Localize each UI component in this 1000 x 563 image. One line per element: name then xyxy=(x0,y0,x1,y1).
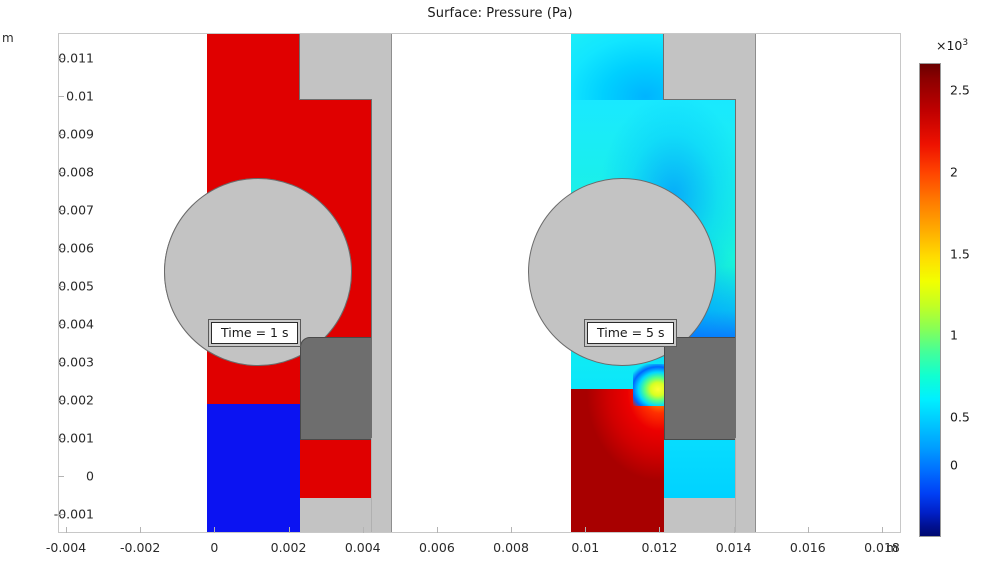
solid-block-left xyxy=(300,337,372,440)
x-tick-label: 0.01 xyxy=(571,540,599,555)
outline-left-inner-low xyxy=(371,438,372,532)
x-tick-label: -0.004 xyxy=(46,540,86,555)
outline-right-outer xyxy=(755,34,756,532)
outline-left-outer xyxy=(391,34,392,532)
x-tick-label: 0.014 xyxy=(716,540,752,555)
y-tick-mark xyxy=(58,400,64,401)
colorbar-exponent-power: 3 xyxy=(962,38,968,48)
x-tick-mark xyxy=(363,527,364,533)
x-tick-mark xyxy=(66,527,67,533)
field-upper-chamber-right xyxy=(571,34,664,100)
y-tick-mark xyxy=(58,248,64,249)
y-tick-mark xyxy=(58,134,64,135)
x-tick-mark xyxy=(289,527,290,533)
colorbar-tick-label: 0.5 xyxy=(950,410,970,425)
x-tick-label: 0.006 xyxy=(419,540,455,555)
outline-right-inner-low xyxy=(735,438,736,532)
y-tick-mark xyxy=(58,96,64,97)
x-tick-mark xyxy=(437,527,438,533)
colorbar-gradient-strip xyxy=(919,63,941,537)
colorbar-tick-label: 0 xyxy=(950,458,958,473)
y-tick-mark xyxy=(58,58,64,59)
panel-time-5s xyxy=(571,34,756,532)
outline-left-inner-wall xyxy=(371,100,372,438)
colorbar-tick-label: 1 xyxy=(950,328,958,343)
time-annotation-right: Time = 5 s xyxy=(587,322,674,344)
x-tick-label: 0.016 xyxy=(790,540,826,555)
x-tick-mark xyxy=(140,527,141,533)
y-tick-label: 0.01 xyxy=(66,89,94,104)
colorbar-exponent-label: ×103 xyxy=(936,38,968,53)
colorbar-tick-label: 2.5 xyxy=(950,83,970,98)
x-tick-label: 0.012 xyxy=(642,540,678,555)
field-upper-chamber-left xyxy=(207,34,300,100)
y-tick-mark xyxy=(58,324,64,325)
x-tick-mark xyxy=(734,527,735,533)
colorbar-tick-label: 2 xyxy=(950,165,958,180)
y-tick-label: 0 xyxy=(86,469,94,484)
y-tick-mark xyxy=(58,362,64,363)
y-tick-mark xyxy=(58,476,64,477)
x-tick-mark xyxy=(214,527,215,533)
x-tick-mark xyxy=(511,527,512,533)
x-tick-mark xyxy=(882,527,883,533)
outline-left-step-vert xyxy=(299,34,300,100)
outline-left-step xyxy=(299,99,372,100)
y-tick-mark xyxy=(58,514,64,515)
field-inlet-bottom-left xyxy=(207,404,300,532)
x-tick-label: -0.002 xyxy=(120,540,160,555)
time-annotation-left: Time = 1 s xyxy=(211,322,298,344)
outline-right-step xyxy=(663,99,736,100)
x-tick-mark xyxy=(659,527,660,533)
page-title: Surface: Pressure (Pa) xyxy=(0,6,1000,21)
x-tick-mark xyxy=(585,527,586,533)
y-tick-mark xyxy=(58,286,64,287)
plot-canvas: Time = 1 s Time = 5 s xyxy=(59,34,900,532)
y-tick-mark xyxy=(58,210,64,211)
x-tick-mark xyxy=(808,527,809,533)
panel-time-1s xyxy=(207,34,392,532)
x-tick-label: 0.018 xyxy=(864,540,900,555)
colorbar-exponent-base: ×10 xyxy=(936,38,962,53)
x-tick-label: 0.004 xyxy=(345,540,381,555)
field-inlet-bottom-right xyxy=(571,389,664,532)
y-tick-mark xyxy=(58,172,64,173)
outline-right-inner-wall xyxy=(735,100,736,438)
y-axis-unit-label: m xyxy=(2,31,14,45)
colorbar-tick-label: 1.5 xyxy=(950,247,970,262)
x-tick-label: 0.008 xyxy=(493,540,529,555)
y-tick-mark xyxy=(58,438,64,439)
x-tick-label: 0 xyxy=(210,540,218,555)
outline-right-step-vert xyxy=(663,34,664,100)
x-tick-label: 0.002 xyxy=(271,540,307,555)
solid-block-right xyxy=(664,337,736,440)
